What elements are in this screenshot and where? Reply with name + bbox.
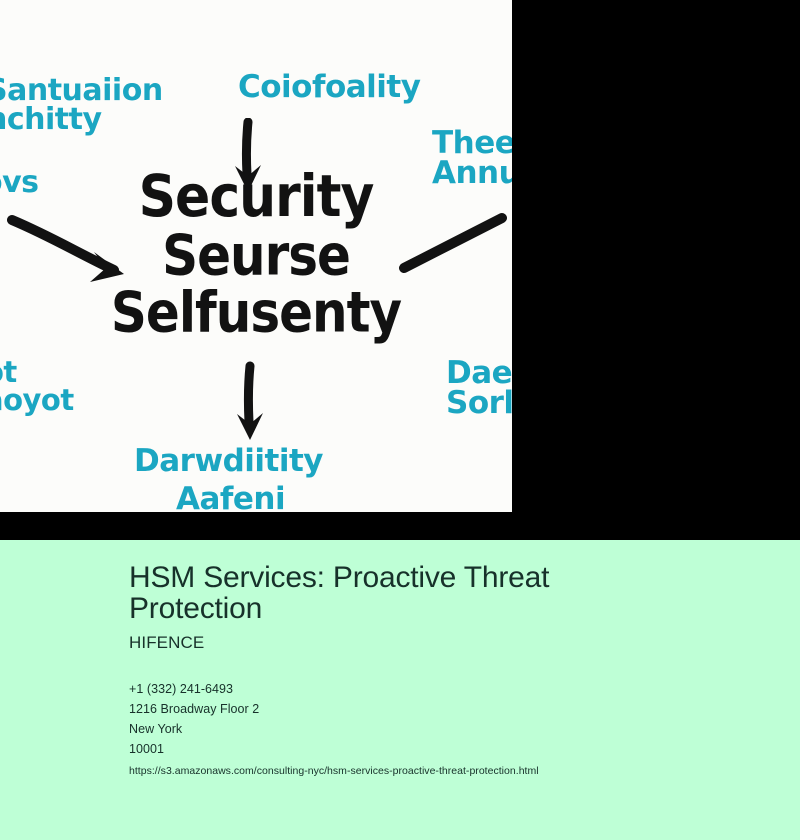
contact-zip: 10001: [129, 739, 729, 759]
contact-city: New York: [129, 719, 729, 739]
contact-phone[interactable]: +1 (332) 241-6493: [129, 679, 729, 699]
arrow-down-bottom-icon: [222, 360, 282, 446]
diagram-label-north: Coiofoality: [238, 72, 420, 102]
diagram-core-text: Security Seurse Selfusenty: [0, 168, 512, 342]
diagram-core-line-1: Security: [0, 168, 512, 227]
info-panel: HSM Services: Proactive Threat Protectio…: [0, 540, 800, 840]
diagram-label-south-secondary: Aafeni: [176, 484, 285, 512]
hero-band: Santuaiion nchitty ovs Coiofoality Thee …: [0, 0, 800, 540]
company-name: HIFENCE: [129, 633, 729, 653]
source-url[interactable]: https://s3.amazonaws.com/consulting-nyc/…: [129, 763, 729, 779]
contact-block: +1 (332) 241-6493 1216 Broadway Floor 2 …: [129, 679, 729, 779]
diagram-core-line-3: Selfusenty: [0, 285, 512, 342]
diagram-label-northwest: Santuaiion nchitty: [0, 76, 163, 135]
contact-address-line1: 1216 Broadway Floor 2: [129, 699, 729, 719]
diagram-label-south: Darwdiitity: [134, 446, 323, 476]
diagram-core-line-2: Seurse: [0, 227, 512, 284]
page-root: Santuaiion nchitty ovs Coiofoality Thee …: [0, 0, 800, 840]
diagram-label-southeast: Dae Sorliortu: [446, 358, 512, 419]
diagram-label-southwest: ot aoyot: [0, 358, 74, 415]
hero-illustration: Santuaiion nchitty ovs Coiofoality Thee …: [0, 0, 512, 512]
info-content: HSM Services: Proactive Threat Protectio…: [129, 562, 729, 779]
page-title: HSM Services: Proactive Threat Protectio…: [129, 562, 609, 624]
